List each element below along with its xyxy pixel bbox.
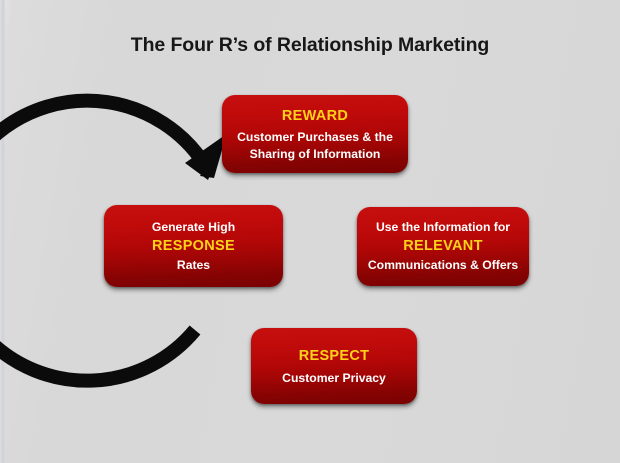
cycle-node-respect[interactable]: RESPECT Customer Privacy — [251, 328, 417, 404]
cycle-node-response-key: RESPONSE — [152, 236, 235, 257]
cycle-node-response-line2: Rates — [177, 257, 210, 274]
cycle-node-respect-key: RESPECT — [299, 346, 370, 367]
cycle-node-relevant-key: RELEVANT — [403, 236, 482, 257]
cycle-node-relevant[interactable]: Use the Information for RELEVANT Communi… — [357, 207, 529, 286]
cycle-node-reward-key: REWARD — [282, 106, 348, 127]
slide-canvas: The Four R’s of Relationship Marketing R… — [0, 0, 620, 463]
cycle-node-respect-line1: Customer Privacy — [282, 370, 386, 387]
cycle-node-reward-line2: Sharing of Information — [250, 146, 381, 163]
cycle-node-response[interactable]: Generate High RESPONSE Rates — [104, 205, 283, 287]
cycle-node-reward-line1: Customer Purchases & the — [237, 129, 393, 146]
cycle-node-response-line1: Generate High — [152, 219, 235, 236]
cycle-node-relevant-line2: Communications & Offers — [368, 257, 518, 274]
cycle-node-reward[interactable]: REWARD Customer Purchases & the Sharing … — [222, 95, 408, 173]
cycle-node-relevant-line1: Use the Information for — [376, 219, 510, 236]
